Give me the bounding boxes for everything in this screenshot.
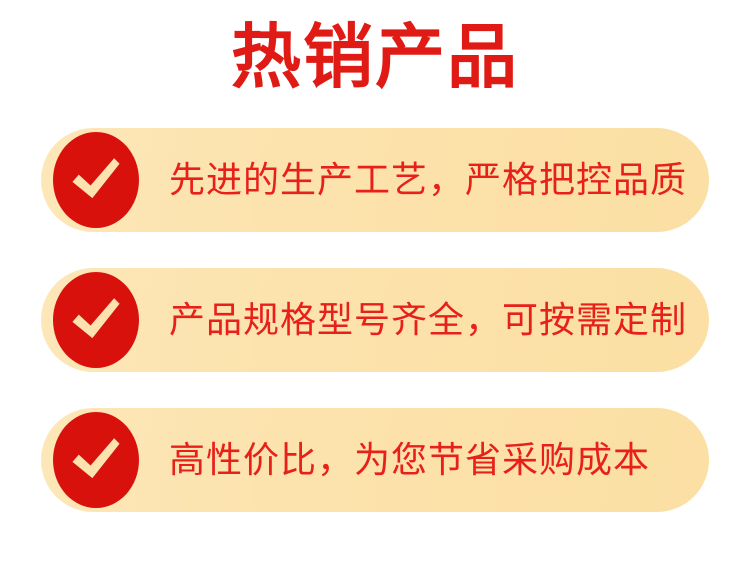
feature-list: 先进的生产工艺，严格把控品质 产品规格型号齐全，可按需定制 高性价比，为您节省采… xyxy=(0,128,750,512)
promo-banner-page: 热销产品 先进的生产工艺，严格把控品质 产品规格型号齐全，可按需定制 xyxy=(0,0,750,564)
check-mark-icon xyxy=(53,132,139,228)
check-mark-icon xyxy=(53,272,139,368)
feature-row: 先进的生产工艺，严格把控品质 xyxy=(41,128,709,232)
feature-text: 产品规格型号齐全，可按需定制 xyxy=(169,298,689,342)
check-mark-icon xyxy=(53,412,139,508)
feature-row: 高性价比，为您节省采购成本 xyxy=(41,408,709,512)
feature-text: 先进的生产工艺，严格把控品质 xyxy=(169,158,689,202)
feature-row: 产品规格型号齐全，可按需定制 xyxy=(41,268,709,372)
page-title: 热销产品 xyxy=(0,18,750,96)
feature-text: 高性价比，为您节省采购成本 xyxy=(169,438,689,482)
